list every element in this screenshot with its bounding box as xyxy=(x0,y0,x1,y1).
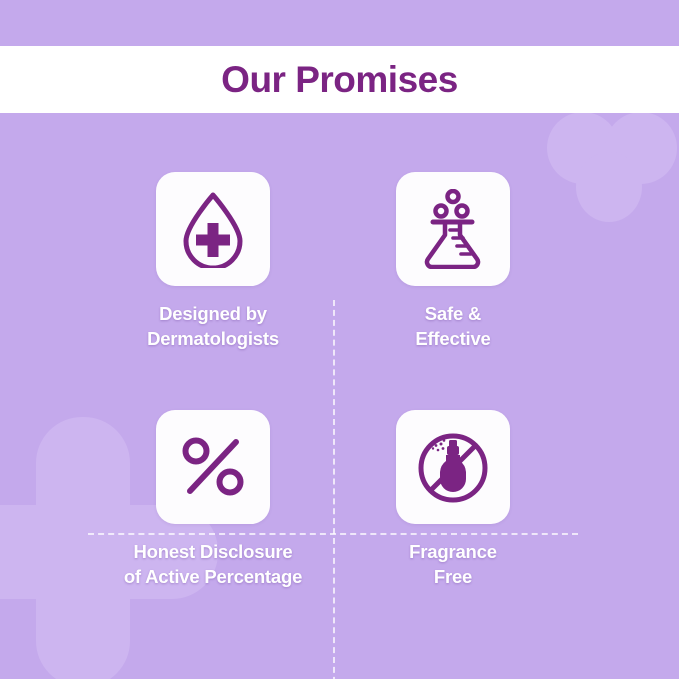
icon-card xyxy=(396,410,510,524)
icon-card xyxy=(396,172,510,286)
promise-item-safe-and-effective: Safe & Effective xyxy=(293,172,613,422)
promise-label: Safe & Effective xyxy=(415,301,490,351)
promises-grid: Designed by Dermatologists Safe & Effect… xyxy=(0,130,679,679)
droplet-plus-icon xyxy=(176,190,250,268)
page-title: Our Promises xyxy=(221,59,458,101)
promise-label: Fragrance Free xyxy=(409,539,497,589)
header-band: Our Promises xyxy=(0,46,679,113)
no-fragrance-icon xyxy=(413,427,493,507)
icon-card xyxy=(156,410,270,524)
flask-icon xyxy=(420,189,486,269)
icon-card xyxy=(156,172,270,286)
promise-label: Designed by Dermatologists xyxy=(147,301,279,351)
promise-item-fragrance-free: Fragrance Free xyxy=(293,410,613,660)
percent-icon xyxy=(180,436,246,498)
promises-banner: Our Promises Designed by Dermatologists xyxy=(0,0,679,679)
promise-label: Honest Disclosure of Active Percentage xyxy=(124,539,302,589)
